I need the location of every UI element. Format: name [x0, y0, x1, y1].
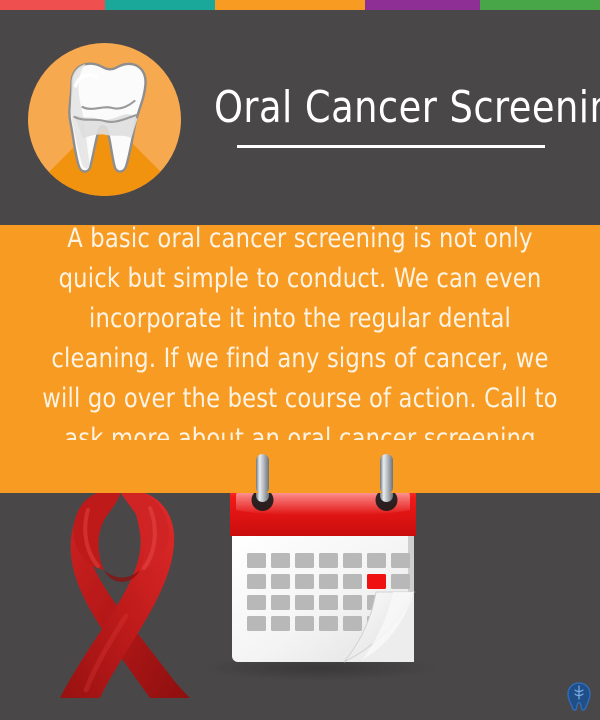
top-color-bar	[0, 0, 600, 10]
segment-red	[0, 0, 105, 10]
segment-teal	[105, 0, 215, 10]
header: Oral Cancer Screening	[0, 10, 600, 225]
calendar-highlight-day	[367, 574, 386, 589]
tooth-icon-badge	[28, 43, 181, 196]
segment-purple	[365, 0, 480, 10]
tooth-icon	[28, 43, 181, 196]
page-title: Oral Cancer Screening	[214, 82, 549, 134]
segment-green	[480, 0, 600, 10]
tooth-logo-icon[interactable]	[566, 681, 592, 713]
title-block: Oral Cancer Screening	[214, 82, 574, 148]
ribbon-calendar-illustration	[0, 440, 600, 720]
red-awareness-ribbon	[60, 491, 190, 698]
poster-root: Oral Cancer Screening A basic oral cance…	[0, 0, 600, 720]
title-underline	[237, 145, 545, 148]
segment-orange	[215, 0, 365, 10]
band-overlap-mask	[0, 440, 600, 493]
illustration-area	[0, 440, 600, 720]
